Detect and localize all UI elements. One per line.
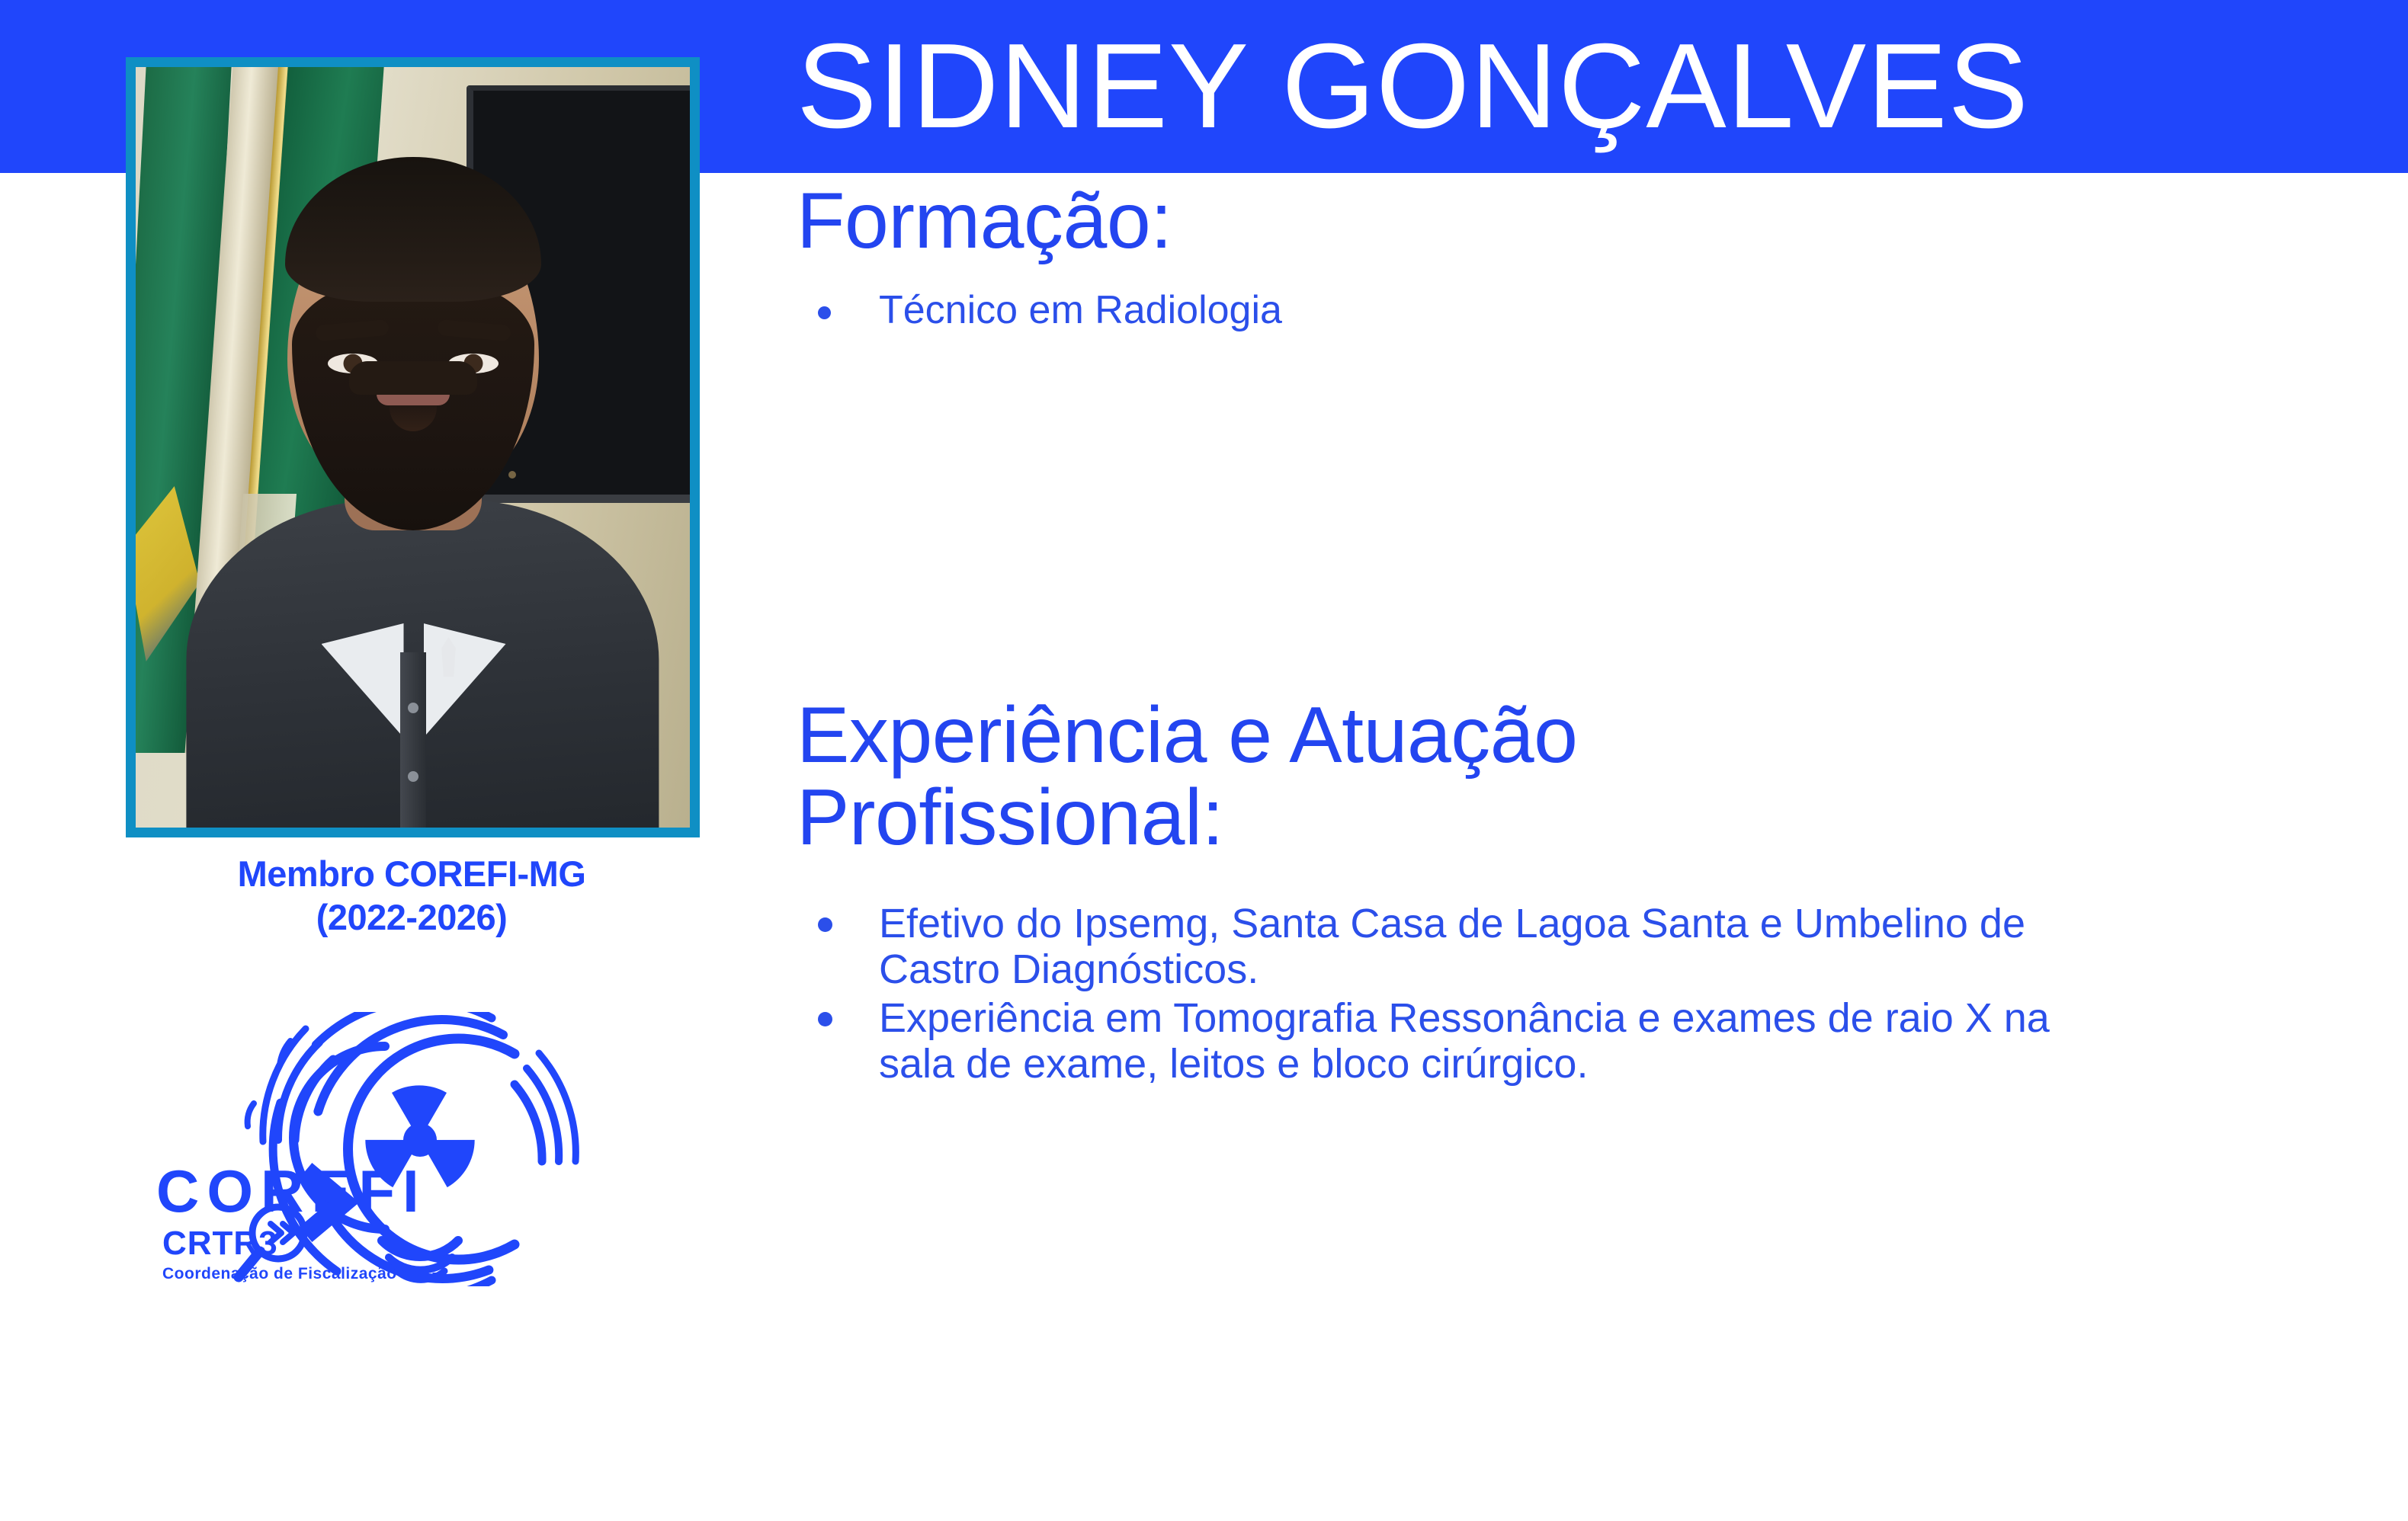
caption-role: Membro COREFI-MG — [107, 852, 717, 895]
photo-shirt-button — [408, 703, 418, 713]
logo-subtitle: CRTR3 — [162, 1225, 278, 1262]
formacao-list: Técnico em Radiologia — [797, 287, 1282, 334]
logo-wordmark: COREFI — [156, 1158, 427, 1225]
caption-term: (2022-2026) — [107, 895, 717, 939]
item-text-continued: Castro Diagnósticos. — [879, 946, 2355, 992]
section-heading-formacao: Formação: — [797, 180, 1172, 262]
list-item: Experiência em Tomografia Ressonância e … — [797, 995, 2355, 1087]
item-text: Efetivo do Ipsemg, Santa Casa de Lagoa S… — [879, 901, 2025, 946]
experiencia-list: Efetivo do Ipsemg, Santa Casa de Lagoa S… — [797, 901, 2355, 1090]
section-heading-experiencia: Experiência e Atuação Profissional: — [797, 694, 2092, 859]
portrait-frame — [126, 57, 700, 837]
item-text-continued: sala de exame, leitos e bloco cirúrgico. — [879, 1041, 2355, 1087]
portrait-caption: Membro COREFI-MG (2022-2026) — [107, 852, 717, 939]
heading-line-1: Experiência e Atuação — [797, 691, 1577, 780]
corefi-logo: COREFI CRTR3 Coordenação de Fiscalização… — [156, 1012, 614, 1286]
list-item: Técnico em Radiologia — [797, 287, 1282, 334]
portrait-photo — [136, 67, 690, 828]
list-item: Efetivo do Ipsemg, Santa Casa de Lagoa S… — [797, 901, 2355, 992]
slide-canvas: SIDNEY GONÇALVES — [0, 0, 2408, 1521]
heading-line-2: Profissional: — [797, 773, 1223, 862]
item-text: Experiência em Tomografia Ressonância e … — [879, 995, 2050, 1041]
photo-person-mustache — [349, 361, 477, 395]
photo-shirt-button — [408, 771, 418, 782]
photo-shirt-placket — [400, 652, 426, 828]
content-column: Formação: Técnico em Radiologia Experiên… — [797, 180, 2359, 1475]
logo-tagline: Coordenação de Fiscalização - MG — [162, 1265, 439, 1282]
page-title: SIDNEY GONÇALVES — [797, 5, 2397, 168]
